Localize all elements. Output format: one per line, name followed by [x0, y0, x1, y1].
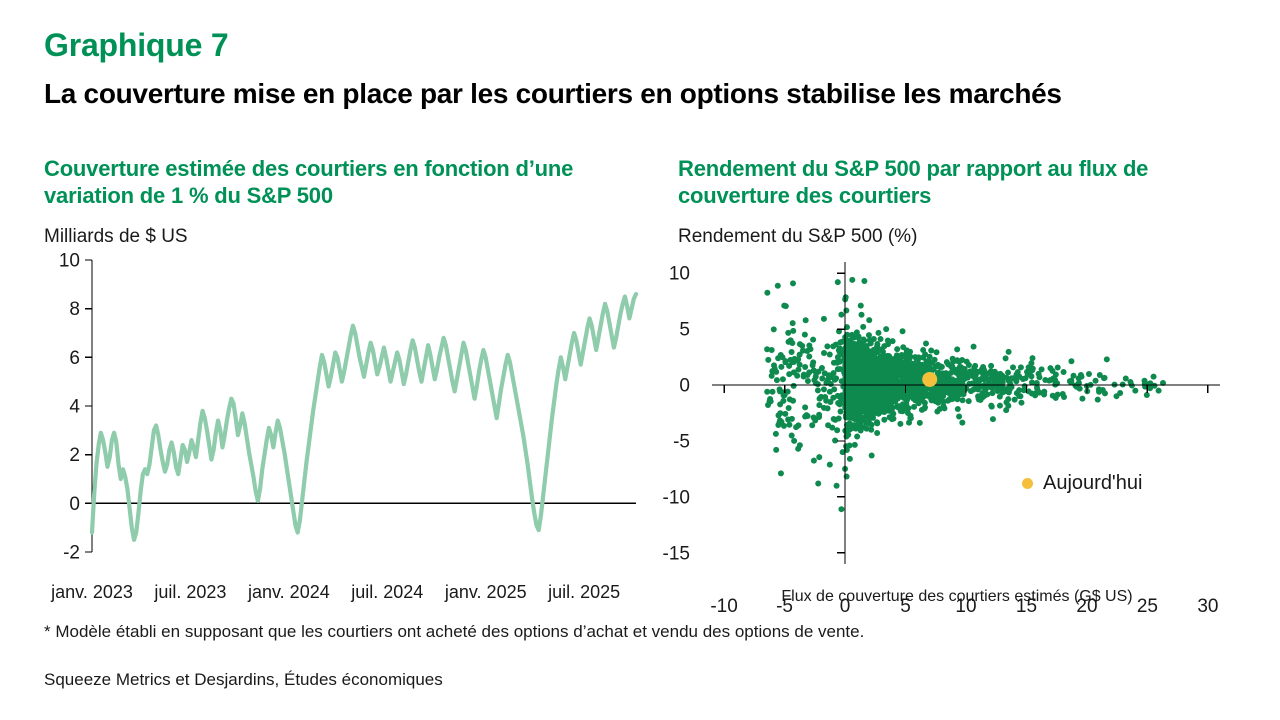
scatter-point	[805, 378, 811, 384]
scatter-point	[1156, 388, 1162, 394]
scatter-point	[868, 338, 874, 344]
scatter-point	[1010, 364, 1016, 370]
scatter-point	[966, 398, 972, 404]
scatter-point	[790, 320, 796, 326]
scatter-point	[947, 388, 953, 394]
scatter-point	[903, 401, 909, 407]
scatter-point	[1030, 355, 1036, 361]
scatter-point	[906, 375, 912, 381]
scatter-point	[880, 352, 886, 358]
scatter-point	[915, 374, 921, 380]
scatter-point	[795, 422, 801, 428]
line-chart-dealer-hedging: -20246810	[40, 252, 640, 582]
scatter-point	[867, 401, 873, 407]
scatter-point	[864, 358, 870, 364]
scatter-point	[845, 353, 851, 359]
scatter-point	[864, 426, 870, 432]
scatter-point	[848, 359, 854, 365]
scatter-point	[815, 387, 821, 393]
scatter-point	[893, 390, 899, 396]
scatter-y-tick-label: -15	[663, 543, 690, 564]
scatter-point	[764, 389, 770, 395]
scatter-point	[1117, 390, 1123, 396]
scatter-point	[1015, 369, 1021, 375]
scatter-point	[843, 308, 849, 314]
scatter-point	[769, 347, 775, 353]
scatter-point	[1102, 375, 1108, 381]
scatter-point	[835, 279, 841, 285]
scatter-point	[773, 431, 779, 437]
scatter-point	[809, 422, 815, 428]
scatter-point	[883, 397, 889, 403]
scatter-point	[855, 343, 861, 349]
scatter-point	[1036, 390, 1042, 396]
scatter-point	[881, 417, 887, 423]
scatter-point	[876, 378, 882, 384]
scatter-point	[1095, 397, 1101, 403]
scatter-point	[899, 352, 905, 358]
scatter-point	[859, 418, 865, 424]
scatter-point	[786, 405, 792, 411]
scatter-point	[1012, 397, 1018, 403]
scatter-point	[858, 303, 864, 309]
scatter-point	[955, 406, 961, 412]
scatter-point	[827, 389, 833, 395]
page-title: La couverture mise en place par les cour…	[44, 76, 1234, 112]
scatter-point	[790, 398, 796, 404]
scatter-point	[838, 506, 844, 512]
legend-today-label: Aujourd'hui	[1043, 472, 1142, 495]
scatter-point	[789, 349, 795, 355]
scatter-point	[791, 438, 797, 444]
scatter-point	[1060, 391, 1066, 397]
scatter-point	[1079, 396, 1085, 402]
scatter-point	[778, 470, 784, 476]
scatter-point	[1104, 356, 1110, 362]
scatter-point	[775, 283, 781, 289]
scatter-point	[1086, 371, 1092, 377]
scatter-point	[807, 346, 813, 352]
scatter-point	[802, 364, 808, 370]
scatter-point	[1151, 374, 1157, 380]
scatter-point	[937, 363, 943, 369]
left-panel-units: Milliards de $ US	[44, 226, 188, 248]
scatter-point	[852, 442, 858, 448]
right-panel-units: Rendement du S&P 500 (%)	[678, 226, 917, 248]
scatter-point	[912, 354, 918, 360]
scatter-point	[775, 412, 781, 418]
line-chart-y-tick-label: 10	[59, 251, 80, 272]
scatter-point	[1061, 369, 1067, 375]
scatter-point	[939, 388, 945, 394]
scatter-point	[1018, 400, 1024, 406]
scatter-point	[895, 361, 901, 367]
scatter-y-tick-label: -10	[663, 487, 690, 508]
scatter-point	[1005, 370, 1011, 376]
scatter-point	[874, 386, 880, 392]
scatter-point	[805, 372, 811, 378]
footnote: * Modèle établi en supposant que les cou…	[44, 620, 944, 645]
scatter-point	[1036, 371, 1042, 377]
scatter-point	[780, 376, 786, 382]
scatter-point	[837, 345, 843, 351]
scatter-point	[767, 398, 773, 404]
scatter-point	[791, 383, 797, 389]
scatter-point	[994, 378, 1000, 384]
scatter-point	[1050, 393, 1056, 399]
scatter-point	[905, 410, 911, 416]
scatter-point	[1128, 379, 1134, 385]
line-chart-x-tick-label: juil. 2024	[351, 582, 423, 603]
line-chart-x-tick-label: juil. 2025	[548, 582, 620, 603]
scatter-chart-spx-vs-hedging: -10-5051015202530-15-10-50510	[672, 252, 1242, 592]
line-chart-y-tick-label: 6	[69, 348, 80, 369]
line-chart-y-tick-label: 0	[69, 494, 80, 515]
scatter-point	[960, 381, 966, 387]
scatter-y-tick-label: 5	[679, 320, 690, 341]
line-chart-y-tick-label: -2	[63, 543, 80, 564]
scatter-point	[816, 454, 822, 460]
scatter-point	[843, 443, 849, 449]
scatter-point	[901, 368, 907, 374]
source-note: Squeeze Metrics et Desjardins, Études éc…	[44, 670, 944, 690]
scatter-point	[934, 349, 940, 355]
scatter-point	[775, 422, 781, 428]
scatter-point	[997, 394, 1003, 400]
right-panel-title: Rendement du S&P 500 par rapport au flux…	[678, 156, 1218, 210]
line-chart-x-tick-label: janv. 2024	[248, 582, 330, 603]
scatter-point	[811, 377, 817, 383]
scatter-point	[773, 447, 779, 453]
scatter-point	[937, 375, 943, 381]
scatter-point	[890, 416, 896, 422]
scatter-point	[837, 401, 843, 407]
scatter-point	[781, 303, 787, 309]
scatter-point	[818, 394, 824, 400]
scatter-point	[810, 362, 816, 368]
scatter-point	[933, 397, 939, 403]
scatter-point	[850, 353, 856, 359]
scatter-point	[892, 383, 898, 389]
line-chart-x-tick-labels: janv. 2023juil. 2023janv. 2024juil. 2024…	[40, 582, 640, 608]
scatter-point	[838, 312, 844, 318]
scatter-point	[917, 420, 923, 426]
scatter-point	[1093, 378, 1099, 384]
scatter-point	[959, 420, 965, 426]
scatter-point	[850, 365, 856, 371]
scatter-point	[906, 420, 912, 426]
scatter-point	[995, 388, 1001, 394]
line-chart-y-tick-label: 4	[69, 397, 80, 418]
scatter-point	[894, 346, 900, 352]
line-chart-x-tick-label: juil. 2023	[154, 582, 226, 603]
scatter-point	[1046, 378, 1052, 384]
scatter-point	[875, 330, 881, 336]
scatter-point	[778, 364, 784, 370]
scatter-point	[782, 411, 788, 417]
scatter-point	[837, 359, 843, 365]
scatter-point	[797, 442, 803, 448]
scatter-point	[1003, 375, 1009, 381]
scatter-point	[777, 386, 783, 392]
scatter-point	[1096, 389, 1102, 395]
scatter-point	[815, 480, 821, 486]
scatter-point	[839, 351, 845, 357]
scatter-point	[909, 365, 915, 371]
scatter-point	[988, 369, 994, 375]
scatter-point	[838, 408, 844, 414]
scatter-point	[885, 341, 891, 347]
scatter-point	[1132, 388, 1138, 394]
scatter-point	[802, 413, 808, 419]
scatter-point	[866, 332, 872, 338]
line-chart-y-tick-label: 8	[69, 299, 80, 320]
scatter-point	[825, 422, 831, 428]
scatter-point	[806, 354, 812, 360]
scatter-point	[1006, 389, 1012, 395]
line-chart-y-tick-label: 2	[69, 445, 80, 466]
scatter-point	[874, 420, 880, 426]
scatter-point	[795, 356, 801, 362]
scatter-point	[880, 386, 886, 392]
scatter-point	[854, 433, 860, 439]
scatter-point	[867, 389, 873, 395]
scatter-point	[988, 363, 994, 369]
scatter-point	[869, 453, 875, 459]
scatter-point	[856, 410, 862, 416]
scatter-point	[893, 376, 899, 382]
scatter-point	[790, 280, 796, 286]
scatter-point	[1020, 376, 1026, 382]
left-panel-title: Couverture estimée des courtiers en fonc…	[44, 156, 664, 210]
scatter-point	[891, 368, 897, 374]
scatter-point	[790, 328, 796, 334]
scatter-point	[900, 328, 906, 334]
scatter-point	[782, 359, 788, 365]
scatter-point	[966, 381, 972, 387]
scatter-point	[827, 352, 833, 358]
scatter-point	[821, 405, 827, 411]
scatter-point	[883, 326, 889, 332]
scatter-point	[975, 393, 981, 399]
scatter-point	[912, 393, 918, 399]
scatter-point	[830, 343, 836, 349]
scatter-point	[1067, 378, 1073, 384]
scatter-point	[816, 414, 822, 420]
scatter-point	[780, 398, 786, 404]
scatter-point	[797, 362, 803, 368]
scatter-point	[976, 369, 982, 375]
scatter-point	[769, 389, 775, 395]
scatter-point	[854, 422, 860, 428]
scatter-chart-svg: -10-5051015202530-15-10-50510	[672, 252, 1242, 592]
scatter-point	[986, 376, 992, 382]
today-marker-icon	[1022, 478, 1033, 489]
scatter-point	[771, 326, 777, 332]
scatter-point	[1055, 365, 1061, 371]
scatter-point	[922, 400, 928, 406]
scatter-point	[1003, 355, 1009, 361]
scatter-point	[878, 362, 884, 368]
scatter-point	[821, 316, 827, 322]
scatter-point	[864, 349, 870, 355]
scatter-point	[1053, 372, 1059, 378]
scatter-point	[882, 405, 888, 411]
scatter-point	[896, 403, 902, 409]
chart-number: Graphique 7	[44, 28, 229, 63]
scatter-y-tick-label: -5	[673, 431, 690, 452]
scatter-point	[849, 277, 855, 283]
scatter-point	[858, 396, 864, 402]
scatter-point	[824, 343, 830, 349]
scatter-point	[1028, 360, 1034, 366]
scatter-point	[821, 386, 827, 392]
scatter-point	[764, 290, 770, 296]
scatter-point	[765, 357, 771, 363]
scatter-point	[866, 317, 872, 323]
scatter-point	[811, 458, 817, 464]
scatter-point	[853, 377, 859, 383]
scatter-point	[989, 404, 995, 410]
scatter-point	[819, 376, 825, 382]
scatter-point	[904, 347, 910, 353]
scatter-point	[827, 399, 833, 405]
scatter-point	[810, 337, 816, 343]
scatter-point	[849, 348, 855, 354]
scatter-y-tick-label: 0	[679, 376, 690, 397]
line-chart-x-tick-label: janv. 2025	[445, 582, 527, 603]
scatter-point	[803, 317, 809, 323]
scatter-point	[874, 430, 880, 436]
scatter-y-tick-label: 10	[669, 264, 690, 285]
scatter-point	[791, 369, 797, 375]
scatter-point	[945, 398, 951, 404]
scatter-point	[1017, 393, 1023, 399]
scatter-point	[928, 347, 934, 353]
scatter-point	[1068, 358, 1074, 364]
scatter-point	[964, 359, 970, 365]
scatter-point	[789, 432, 795, 438]
scatter-point	[886, 353, 892, 359]
scatter-point	[872, 350, 878, 356]
scatter-point	[867, 415, 873, 421]
scatter-point	[1078, 372, 1084, 378]
scatter-point	[979, 376, 985, 382]
scatter-point	[990, 416, 996, 422]
scatter-point	[972, 363, 978, 369]
scatter-point	[802, 332, 808, 338]
scatter-point	[997, 403, 1003, 409]
scatter-point	[1006, 349, 1012, 355]
scatter-point	[857, 390, 863, 396]
scatter-point	[873, 402, 879, 408]
line-chart-x-tick-label: janv. 2023	[51, 582, 133, 603]
scatter-point	[774, 377, 780, 383]
scatter-point	[929, 359, 935, 365]
scatter-point	[962, 376, 968, 382]
scatter-point	[941, 405, 947, 411]
scatter-point	[1003, 407, 1009, 413]
scatter-point	[847, 456, 853, 462]
scatter-point	[885, 372, 891, 378]
scatter-point	[934, 408, 940, 414]
scatter-point	[802, 404, 808, 410]
scatter-point	[834, 483, 840, 489]
scatter-point	[821, 350, 827, 356]
scatter-point	[826, 372, 832, 378]
scatter-point	[922, 351, 928, 357]
scatter-point	[954, 346, 960, 352]
scatter-point	[960, 397, 966, 403]
scatter-x-axis-title: Flux de couverture des courtiers estimés…	[672, 588, 1242, 606]
scatter-point	[859, 312, 865, 318]
scatter-point	[921, 365, 927, 371]
scatter-point	[832, 377, 838, 383]
scatter-point	[857, 349, 863, 355]
scatter-point	[949, 364, 955, 370]
scatter-point	[786, 422, 792, 428]
scatter-point	[1071, 373, 1077, 379]
scatter-point	[863, 364, 869, 370]
scatter-point	[789, 416, 795, 422]
scatter-point	[860, 376, 866, 382]
scatter-point	[847, 408, 853, 414]
scatter-point	[827, 462, 833, 468]
scatter-point	[919, 407, 925, 413]
scatter-point	[948, 370, 954, 376]
scatter-point	[983, 386, 989, 392]
scatter-point	[789, 340, 795, 346]
scatter-point	[815, 369, 821, 375]
scatter-point	[950, 359, 956, 365]
scatter-point	[778, 352, 784, 358]
line-chart-svg: -20246810	[40, 252, 640, 582]
scatter-point	[1029, 367, 1035, 373]
scatter-point	[811, 414, 817, 420]
scatter-point	[923, 341, 929, 347]
scatter-point	[972, 375, 978, 381]
scatter-point	[869, 422, 875, 428]
scatter-point	[878, 336, 884, 342]
scatter-point	[956, 413, 962, 419]
scatter-point	[1005, 396, 1011, 402]
scatter-point	[971, 344, 977, 350]
scatter-point	[831, 416, 837, 422]
scatter-point	[897, 421, 903, 427]
scatter-point	[958, 388, 964, 394]
scatter-point	[861, 278, 867, 284]
scatter-point	[831, 360, 837, 366]
scatter-point	[860, 324, 866, 330]
scatter-point	[769, 368, 775, 374]
legend-today: Aujourd'hui	[1022, 472, 1142, 495]
today-point	[922, 372, 937, 387]
scatter-point	[930, 389, 936, 395]
scatter-point	[962, 366, 968, 372]
slide-canvas: Graphique 7 La couverture mise en place …	[0, 0, 1280, 720]
scatter-point	[950, 379, 956, 385]
scatter-point	[846, 422, 852, 428]
